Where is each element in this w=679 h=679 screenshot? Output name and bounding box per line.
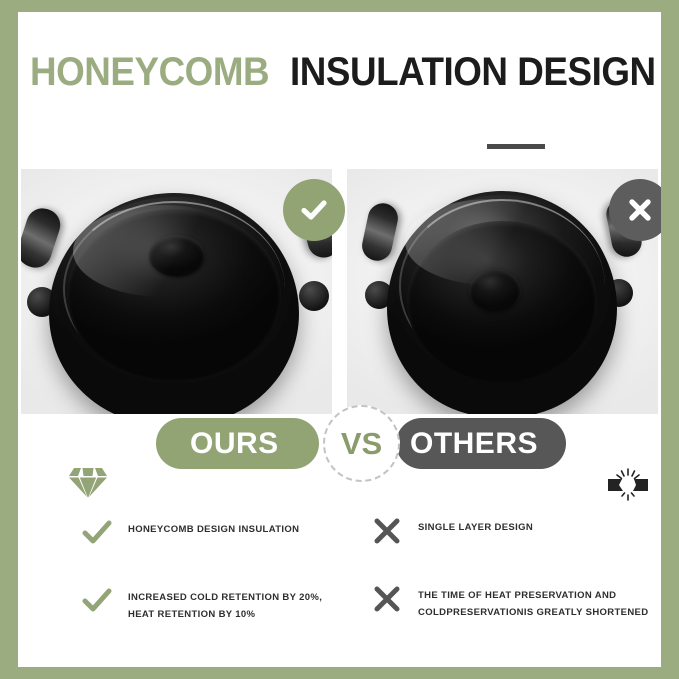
pot-handle-left bbox=[359, 201, 400, 264]
feature-line: HONEYCOMB DESIGN INSULATION bbox=[128, 521, 299, 538]
title-accent-word: HONEYCOMB bbox=[30, 50, 269, 95]
vs-label-text: VS bbox=[341, 426, 382, 462]
pot-lid-knob bbox=[149, 235, 205, 277]
cross-icon bbox=[370, 582, 404, 616]
feature-text: HONEYCOMB DESIGN INSULATION bbox=[128, 516, 299, 538]
check-icon bbox=[80, 584, 114, 618]
page-title: HONEYCOMB INSULATION DESIGN bbox=[30, 50, 649, 95]
horizontal-dash-icon bbox=[487, 144, 545, 149]
feature-line: INCREASED COLD RETENTION BY 20%, bbox=[128, 589, 322, 606]
feature-text: INCREASED COLD RETENTION BY 20%, HEAT RE… bbox=[128, 584, 322, 623]
feature-text: SINGLE LAYER DESIGN bbox=[418, 514, 533, 536]
cross-icon bbox=[370, 514, 404, 548]
pot-handle-left bbox=[21, 204, 64, 272]
feature-item: SINGLE LAYER DESIGN bbox=[370, 514, 533, 548]
diamond-icon bbox=[68, 464, 108, 505]
feature-line: THE TIME OF HEAT PRESERVATION AND bbox=[418, 587, 648, 604]
check-icon bbox=[80, 516, 114, 550]
feature-text: THE TIME OF HEAT PRESERVATION AND COLDPR… bbox=[418, 582, 648, 621]
infographic-canvas: HONEYCOMB INSULATION DESIGN bbox=[18, 12, 661, 667]
title-main-words: INSULATION DESIGN bbox=[290, 50, 656, 95]
infographic-root: HONEYCOMB INSULATION DESIGN bbox=[0, 0, 679, 679]
label-ours-text: OURS bbox=[190, 427, 279, 461]
feature-item: HONEYCOMB DESIGN INSULATION bbox=[80, 516, 299, 550]
pot-hinge-right bbox=[299, 281, 329, 311]
pot-inner-knob bbox=[469, 269, 521, 313]
feature-item: THE TIME OF HEAT PRESERVATION AND COLDPR… bbox=[370, 582, 648, 621]
feature-line: COLDPRESERVATIONIS GREATLY SHORTENED bbox=[418, 604, 648, 621]
check-icon bbox=[283, 179, 345, 241]
label-ours: OURS bbox=[156, 418, 319, 469]
vs-divider: VS bbox=[323, 405, 400, 482]
broken-bar-icon bbox=[606, 467, 650, 508]
label-others: OTHERS bbox=[396, 418, 566, 469]
feature-line: SINGLE LAYER DESIGN bbox=[418, 519, 533, 536]
label-others-text: OTHERS bbox=[410, 427, 538, 461]
feature-item: INCREASED COLD RETENTION BY 20%, HEAT RE… bbox=[80, 584, 322, 623]
feature-line: HEAT RETENTION BY 10% bbox=[128, 606, 322, 623]
